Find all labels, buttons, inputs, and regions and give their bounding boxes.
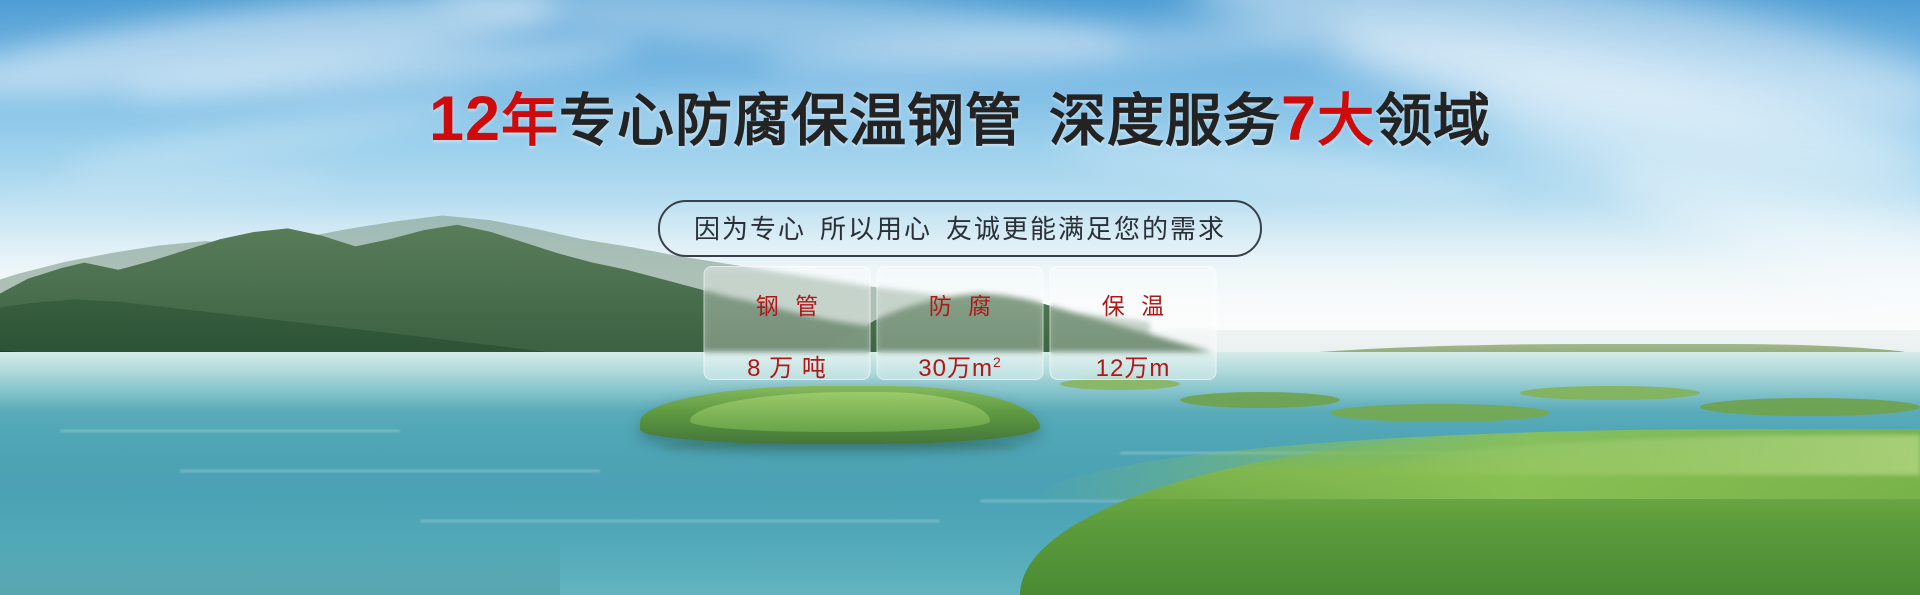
headline-main-part1: 专心防腐保温钢管 — [559, 89, 1023, 153]
stat-value-main: 12万m — [1096, 355, 1171, 382]
stat-value: 30万m2 — [918, 348, 1001, 383]
hero-banner: 12年专心防腐保温钢管深度服务7大领域 因为专心所以用心友诚更能满足您的需求 钢… — [0, 0, 1920, 595]
headline-years-number: 12 — [429, 84, 501, 154]
stat-card-insulation[interactable]: 保 温 12万m — [1050, 266, 1217, 380]
stat-value-main: 30万m — [918, 355, 993, 382]
subtitle-part1: 因为专心 — [694, 214, 806, 244]
headline-years-unit: 年 — [501, 89, 559, 153]
water-ripple — [60, 430, 400, 432]
stat-label: 保 温 — [1097, 287, 1169, 321]
stat-value: 8 万 吨 — [747, 348, 827, 383]
marsh-patch — [1180, 392, 1340, 408]
stat-label: 防 腐 — [924, 287, 996, 321]
banner-headline: 12年专心防腐保温钢管深度服务7大领域 — [0, 88, 1920, 151]
banner-subtitle-pill: 因为专心所以用心友诚更能满足您的需求 — [658, 200, 1262, 257]
stat-value-superscript: 2 — [993, 354, 1002, 370]
headline-main-part2: 深度服务 — [1049, 89, 1281, 153]
water-ripple — [420, 520, 940, 522]
left-bank-shading — [0, 533, 560, 595]
water-ripple — [180, 470, 600, 472]
subtitle-part3: 友诚更能满足您的需求 — [946, 214, 1226, 244]
headline-seven-number: 7 — [1281, 84, 1317, 154]
stat-value-main: 8 万 吨 — [747, 355, 827, 382]
stat-card-steel-pipe[interactable]: 钢 管 8 万 吨 — [704, 266, 871, 380]
stat-card-anticorrosion[interactable]: 防 腐 30万m2 — [877, 266, 1044, 380]
marsh-patch — [1520, 386, 1700, 400]
stat-value: 12万m — [1096, 348, 1171, 383]
headline-main-part3: 领域 — [1375, 89, 1491, 153]
marsh-patch — [1700, 398, 1920, 416]
stat-label: 钢 管 — [751, 287, 823, 321]
subtitle-part2: 所以用心 — [820, 214, 932, 244]
stat-card-group: 钢 管 8 万 吨 防 腐 30万m2 保 温 12万m — [704, 266, 1217, 380]
headline-seven-unit: 大 — [1317, 89, 1375, 153]
marsh-patch — [1330, 404, 1550, 422]
